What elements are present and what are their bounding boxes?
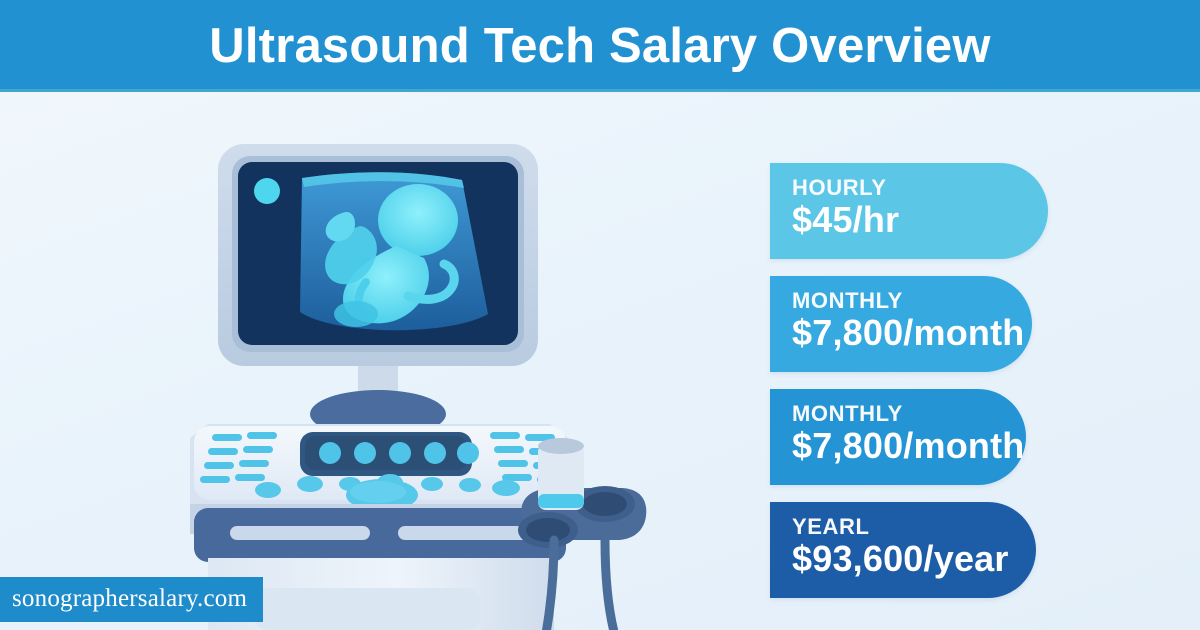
site-watermark: sonographersalary.com	[0, 577, 263, 622]
fetal-scan-image	[300, 172, 488, 330]
salary-card-value: $7,800/month	[792, 312, 1032, 354]
salary-card-label: MONTHLY	[792, 289, 1032, 312]
salary-card-monthly-2: MONTHLY $7,800/month	[770, 389, 1026, 485]
probe-cable	[605, 540, 620, 630]
base-slot	[230, 526, 370, 540]
monitor	[218, 144, 538, 366]
panel-round-button	[424, 442, 446, 464]
base-slot	[398, 526, 538, 540]
header-banner: Ultrasound Tech Salary Overview	[0, 0, 1200, 92]
salary-card-value: $7,800/month	[792, 425, 1026, 467]
salary-card-hourly: HOURLY $45/hr	[770, 163, 1048, 259]
page-title: Ultrasound Tech Salary Overview	[209, 22, 990, 71]
panel-round-button	[354, 442, 376, 464]
salary-card-value: $93,600/year	[792, 538, 1036, 580]
control-panel	[190, 424, 568, 511]
salary-card-label: HOURLY	[792, 176, 1048, 199]
ultrasound-machine-illustration	[150, 96, 710, 630]
salary-card-yearly: YEARL $93,600/year	[770, 502, 1036, 598]
screen-status-dot	[254, 178, 280, 204]
infographic-canvas: Ultrasound Tech Salary Overview	[0, 0, 1200, 630]
salary-card-list: HOURLY $45/hr MONTHLY $7,800/month MONTH…	[770, 163, 1070, 598]
panel-round-button	[319, 442, 341, 464]
salary-card-value: $45/hr	[792, 199, 1048, 241]
salary-card-monthly-1: MONTHLY $7,800/month	[770, 276, 1032, 372]
salary-card-label: MONTHLY	[792, 402, 1026, 425]
salary-card-label: YEARL	[792, 515, 1036, 538]
probe-tip	[538, 494, 584, 508]
panel-round-button	[389, 442, 411, 464]
panel-round-button	[457, 442, 479, 464]
